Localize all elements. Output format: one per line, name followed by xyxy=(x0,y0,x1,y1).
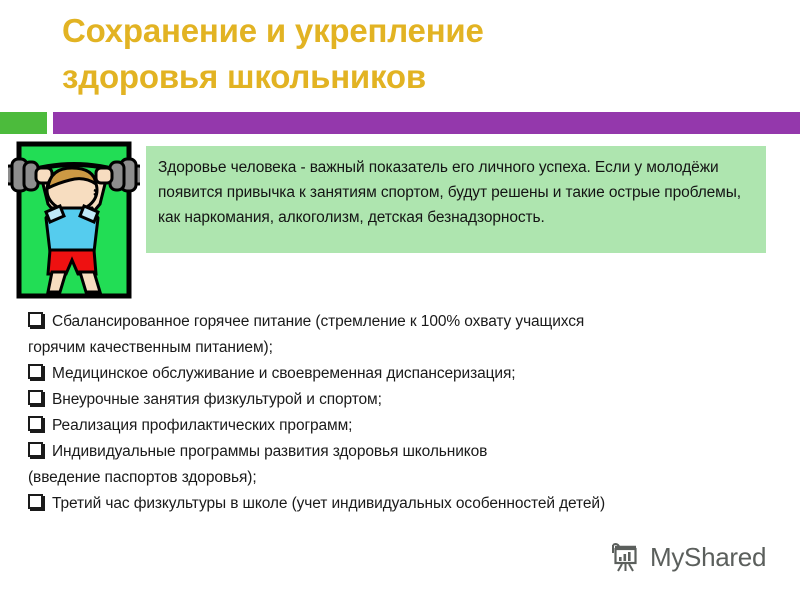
myshared-logo-text: MyShared xyxy=(650,542,766,573)
unbulleted-line: (введение паспортов здоровья); xyxy=(28,465,780,491)
accent-bar-green xyxy=(0,112,47,134)
list-item-label: Медицинское обслуживание и своевременная… xyxy=(52,361,780,387)
myshared-logo: MyShared xyxy=(608,540,766,574)
presentation-chart-icon xyxy=(608,540,642,574)
callout-text: Здоровье человека - важный показатель ег… xyxy=(158,155,754,230)
square-bullet-icon xyxy=(28,361,52,387)
page-title: Сохранение и укрепление здоровья школьни… xyxy=(62,8,762,100)
list-item-continuation: горячим качественным питанием); xyxy=(28,335,780,361)
list-item-label: Индивидуальные программы развития здоров… xyxy=(52,439,780,465)
square-bullet-icon xyxy=(28,413,52,439)
list-item: Третий час физкультуры в школе (учет инд… xyxy=(28,491,780,517)
list-item: Реализация профилактических программ; xyxy=(28,413,780,439)
list-item: Индивидуальные программы развития здоров… xyxy=(28,439,780,465)
square-bullet-icon xyxy=(28,387,52,413)
accent-bar-purple xyxy=(53,112,800,134)
list-item: Медицинское обслуживание и своевременная… xyxy=(28,361,780,387)
list-item-label: Реализация профилактических программ; xyxy=(52,413,780,439)
list-item-label: Внеурочные занятия физкультурой и спорто… xyxy=(52,387,780,413)
page-title-line-1: Сохранение и укрепление xyxy=(62,8,762,54)
slide-canvas: Сохранение и укрепление здоровья школьни… xyxy=(0,0,800,600)
list-item: Внеурочные занятия физкультурой и спорто… xyxy=(28,387,780,413)
list-item: Сбалансированное горячее питание (стремл… xyxy=(28,309,780,335)
highlight-callout-box: Здоровье человека - важный показатель ег… xyxy=(146,146,766,253)
page-title-line-2: здоровья школьников xyxy=(62,54,762,100)
list-item-label: Сбалансированное горячее питание (стремл… xyxy=(52,309,780,335)
square-bullet-icon xyxy=(28,309,52,335)
list-item-label: Третий час физкультуры в школе (учет инд… xyxy=(52,491,780,517)
bullet-list: Сбалансированное горячее питание (стремл… xyxy=(28,309,780,517)
square-bullet-icon xyxy=(28,439,52,465)
weightlifter-illustration xyxy=(8,140,140,305)
square-bullet-icon xyxy=(28,491,52,517)
